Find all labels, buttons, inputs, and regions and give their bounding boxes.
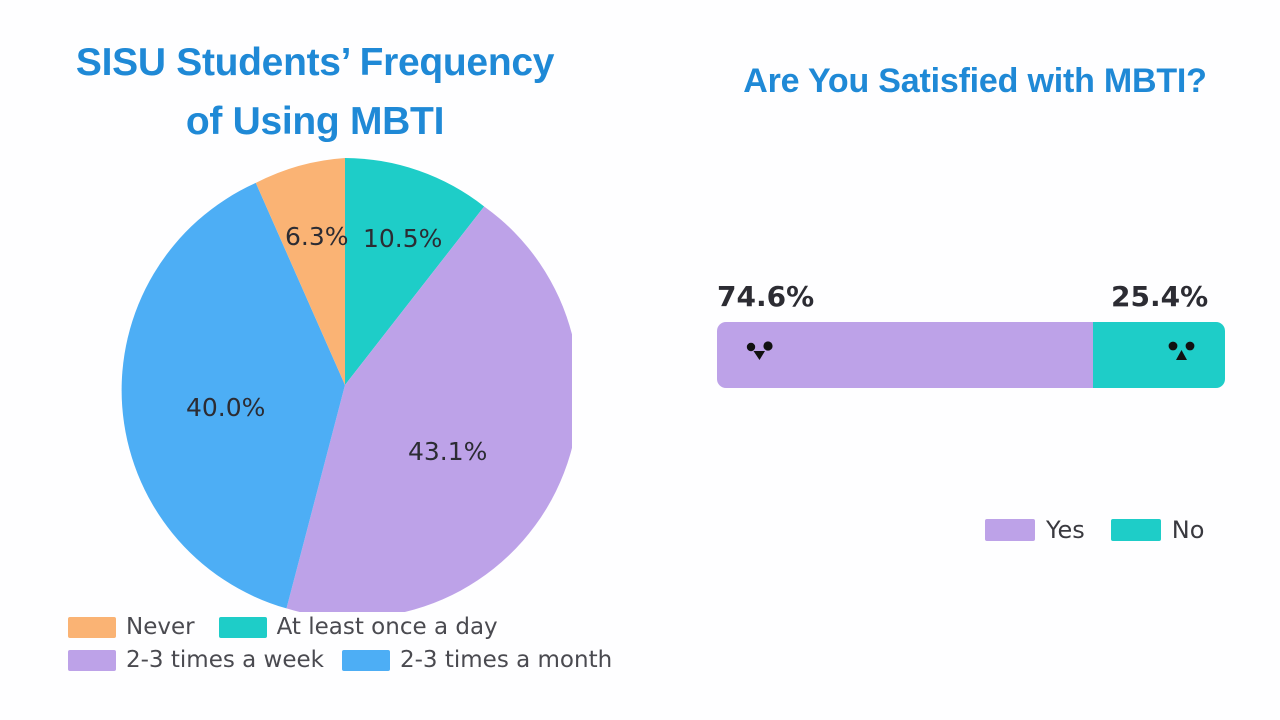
pie-label-never: 6.3%	[285, 222, 349, 251]
bar-segment-no[interactable]	[1093, 322, 1225, 388]
bar-legend-item-yes[interactable]: Yes	[985, 516, 1085, 544]
bar-legend-item-no[interactable]: No	[1111, 516, 1205, 544]
legend-label-2-3-times-a-month: 2-3 times a month	[400, 647, 612, 673]
stacked-bar-chart	[717, 322, 1225, 388]
legend-swatch-2-3-times-a-month	[342, 650, 390, 671]
legend-label-yes: Yes	[1046, 516, 1085, 544]
pie-legend-item-at-least-once-a-day[interactable]: At least once a day	[219, 614, 498, 640]
pie-legend: Never At least once a day 2-3 times a we…	[68, 614, 668, 680]
legend-label-2-3-times-a-week: 2-3 times a week	[126, 647, 324, 673]
happy-face-icon	[745, 340, 775, 368]
pie-legend-row-1: Never At least once a day	[68, 614, 668, 640]
pie-label-2-3-times-a-week: 43.1%	[408, 437, 487, 466]
pie-label-at-least-once-a-day: 10.5%	[363, 224, 442, 253]
pie-legend-item-2-3-times-a-week[interactable]: 2-3 times a week	[68, 647, 324, 673]
legend-swatch-yes	[985, 519, 1035, 541]
legend-label-no: No	[1172, 516, 1205, 544]
legend-label-at-least-once-a-day: At least once a day	[277, 614, 498, 640]
pie-label-2-3-times-a-month: 40.0%	[186, 393, 265, 422]
frequency-chart-panel: SISU Students’ Frequency of Using MBTI 6…	[0, 0, 660, 720]
legend-label-never: Never	[126, 614, 195, 640]
bar-value-no: 25.4%	[1111, 280, 1208, 313]
legend-swatch-no	[1111, 519, 1161, 541]
legend-swatch-2-3-times-a-week	[68, 650, 116, 671]
pie-legend-item-2-3-times-a-month[interactable]: 2-3 times a month	[342, 647, 612, 673]
legend-swatch-never	[68, 617, 116, 638]
pie-legend-item-never[interactable]: Never	[68, 614, 195, 640]
bar-legend: Yes No	[985, 516, 1230, 544]
bar-segment-yes[interactable]	[717, 322, 1093, 388]
sad-face-icon	[1167, 340, 1197, 368]
satisfaction-chart-panel: Are You Satisfied with MBTI? 74.6% 25.4%…	[660, 0, 1280, 720]
pie-legend-row-2: 2-3 times a week 2-3 times a month	[68, 647, 668, 673]
pie-chart-title: SISU Students’ Frequency of Using MBTI	[30, 34, 600, 151]
legend-swatch-at-least-once-a-day	[219, 617, 267, 638]
bar-chart-title: Are You Satisfied with MBTI?	[670, 62, 1280, 101]
bar-value-yes: 74.6%	[717, 280, 814, 313]
